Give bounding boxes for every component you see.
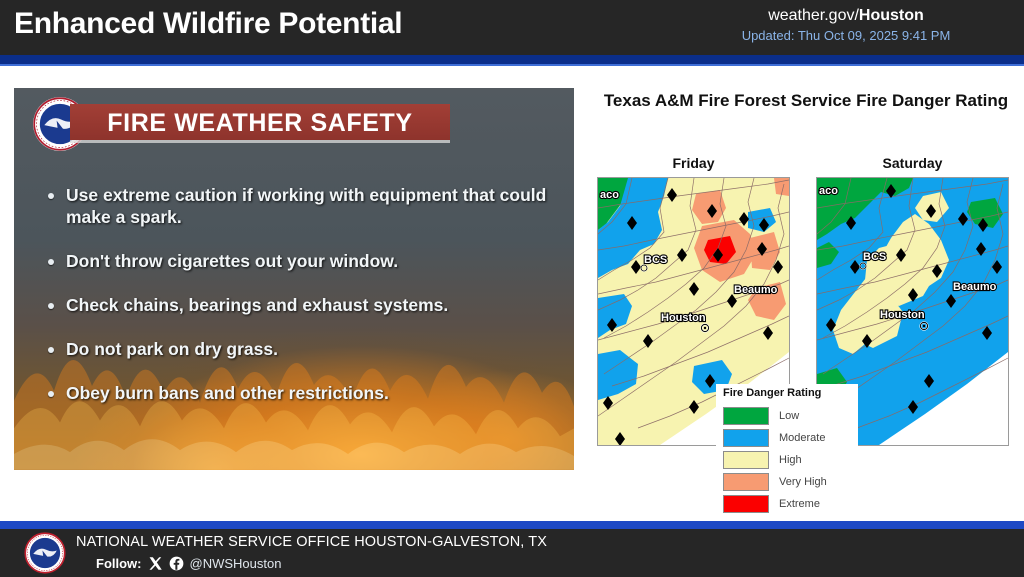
city-label-beaumont: Beaumo <box>734 284 778 296</box>
bullet-dot-icon <box>48 259 54 265</box>
legend-label-low: Low <box>779 410 799 422</box>
site-url: weather.gov/Houston <box>696 6 996 25</box>
legend-label-very-high: Very High <box>779 476 827 488</box>
legend-item-moderate: Moderate <box>723 427 827 449</box>
safety-bullet-list: Use extreme caution if working with equi… <box>48 184 558 426</box>
site-url-office: Houston <box>859 7 924 24</box>
nws-seal-icon <box>24 532 66 574</box>
list-item: Check chains, bearings and exhaust syste… <box>48 294 558 316</box>
legend-item-high: High <box>723 449 827 471</box>
legend-rows: Low Moderate High Very High Extreme <box>723 405 827 515</box>
safety-banner: FIRE WEATHER SAFETY <box>70 104 450 140</box>
bullet-text: Obey burn bans and other restrictions. <box>66 382 389 404</box>
legend-item-extreme: Extreme <box>723 493 827 515</box>
list-item: Obey burn bans and other restrictions. <box>48 382 558 404</box>
facebook-icon[interactable] <box>169 556 184 571</box>
bullet-text: Use extreme caution if working with equi… <box>66 184 558 228</box>
bullet-text: Do not park on dry grass. <box>66 338 278 360</box>
safety-banner-title: FIRE WEATHER SAFETY <box>70 109 450 138</box>
footer-follow-block: Follow: @NWSHouston <box>96 556 281 571</box>
bullet-text: Check chains, bearings and exhaust syste… <box>66 294 448 316</box>
day-label-saturday: Saturday <box>816 155 1009 171</box>
header-right-block: weather.gov/Houston Updated: Thu Oct 09,… <box>696 6 996 44</box>
day-label-friday: Friday <box>597 155 790 171</box>
legend-swatch-very-high <box>723 473 769 491</box>
city-label-waco: aco <box>819 185 838 197</box>
city-label-beaumont: Beaumo <box>953 281 997 293</box>
legend-label-moderate: Moderate <box>779 432 825 444</box>
wildfire-graphic: Enhanced Wildfire Potential weather.gov/… <box>0 0 1024 577</box>
maps-title: Texas A&M Fire Forest Service Fire Dange… <box>596 90 1016 111</box>
footer-bar: NATIONAL WEATHER SERVICE OFFICE HOUSTON-… <box>0 529 1024 577</box>
list-item: Do not park on dry grass. <box>48 338 558 360</box>
fire-weather-safety-panel: FIRE WEATHER SAFETY Use extreme caution … <box>14 88 574 470</box>
footer-office-name: NATIONAL WEATHER SERVICE OFFICE HOUSTON-… <box>76 534 547 550</box>
follow-label: Follow: <box>96 556 142 571</box>
legend-swatch-low <box>723 407 769 425</box>
bullet-dot-icon <box>48 193 54 199</box>
map-legend: Fire Danger Rating Low Moderate High Ver… <box>716 384 858 520</box>
city-label-houston: Houston <box>880 309 925 321</box>
legend-title: Fire Danger Rating <box>723 387 821 399</box>
header-bar: Enhanced Wildfire Potential weather.gov/… <box>0 0 1024 55</box>
bullet-dot-icon <box>48 303 54 309</box>
legend-item-very-high: Very High <box>723 471 827 493</box>
legend-item-low: Low <box>723 405 827 427</box>
x-twitter-icon[interactable] <box>148 556 163 571</box>
bullet-text: Don't throw cigarettes out your window. <box>66 250 398 272</box>
legend-swatch-high <box>723 451 769 469</box>
header-divider <box>0 55 1024 66</box>
list-item: Don't throw cigarettes out your window. <box>48 250 558 272</box>
legend-swatch-moderate <box>723 429 769 447</box>
city-label-waco: aco <box>600 189 619 201</box>
social-handle: @NWSHouston <box>190 556 282 571</box>
updated-timestamp: Updated: Thu Oct 09, 2025 9:41 PM <box>696 27 996 44</box>
legend-label-extreme: Extreme <box>779 498 820 510</box>
city-label-bcs: BCS <box>644 254 667 266</box>
list-item: Use extreme caution if working with equi… <box>48 184 558 228</box>
city-label-bcs: BCS <box>863 251 886 263</box>
legend-swatch-extreme <box>723 495 769 513</box>
site-url-prefix: weather.gov/ <box>768 7 859 24</box>
footer-divider <box>0 521 1024 529</box>
page-title: Enhanced Wildfire Potential <box>14 7 402 41</box>
legend-label-high: High <box>779 454 802 466</box>
bullet-dot-icon <box>48 391 54 397</box>
city-label-houston: Houston <box>661 312 706 324</box>
bullet-dot-icon <box>48 347 54 353</box>
